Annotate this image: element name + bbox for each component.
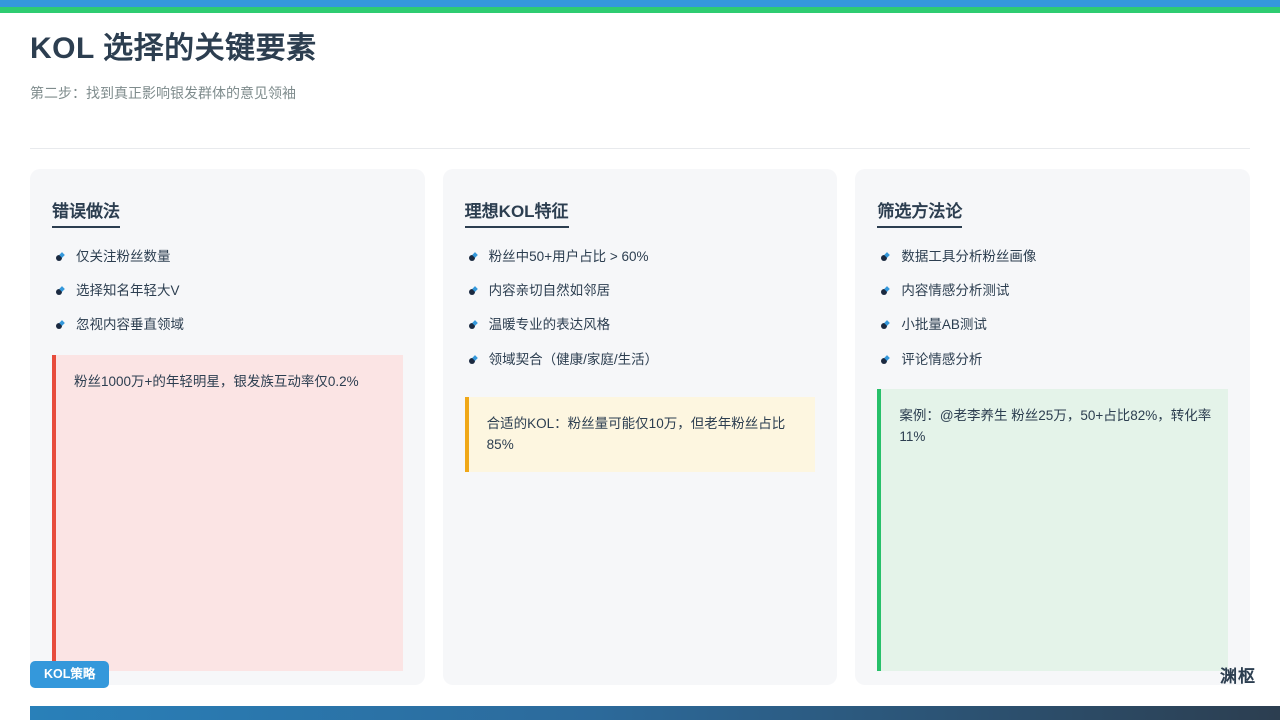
card-ideal-kol-traits: 理想KOL特征 粉丝中50+用户占比 > 60% 内容亲切自然如邻居 温暖专业的… xyxy=(443,169,838,685)
top-accent-bar-blue xyxy=(0,0,1280,7)
card-wrong-practices: 错误做法 仅关注粉丝数量 选择知名年轻大V 忽视内容垂直领域 粉丝1000万+的… xyxy=(30,169,425,685)
callout-box-green: 案例：@老李养生 粉丝25万，50+占比82%，转化率11% xyxy=(877,389,1228,671)
card-title: 筛选方法论 xyxy=(877,197,962,228)
list-item-label: 温暖专业的表达风格 xyxy=(489,317,611,332)
list-item-label: 粉丝中50+用户占比 > 60% xyxy=(489,249,649,264)
list-item: 评论情感分析 xyxy=(879,351,1228,369)
bullet-diamond-icon xyxy=(469,321,478,329)
list-item: 忽视内容垂直领域 xyxy=(54,316,403,334)
list-item-label: 评论情感分析 xyxy=(901,352,982,367)
list-item-label: 内容亲切自然如邻居 xyxy=(489,283,611,298)
bullet-list: 仅关注粉丝数量 选择知名年轻大V 忽视内容垂直领域 xyxy=(54,248,403,351)
list-item-label: 忽视内容垂直领域 xyxy=(76,317,184,332)
page-title: KOL 选择的关键要素 xyxy=(30,30,1250,68)
bullet-diamond-icon xyxy=(469,253,478,261)
card-spacer xyxy=(465,472,816,685)
callout-box-yellow: 合适的KOL：粉丝量可能仅10万，但老年粉丝占比85% xyxy=(465,397,816,472)
list-item-label: 内容情感分析测试 xyxy=(901,283,1009,298)
bullet-list: 数据工具分析粉丝画像 内容情感分析测试 小批量AB测试 评论情感分析 xyxy=(879,248,1228,385)
bullet-diamond-icon xyxy=(881,253,890,261)
list-item: 内容亲切自然如邻居 xyxy=(467,282,816,300)
list-item: 内容情感分析测试 xyxy=(879,282,1228,300)
list-item: 温暖专业的表达风格 xyxy=(467,316,816,334)
list-item-label: 选择知名年轻大V xyxy=(76,283,180,298)
bullet-diamond-icon xyxy=(469,356,478,364)
top-accent-bar-green xyxy=(0,7,1280,13)
list-item-label: 小批量AB测试 xyxy=(901,317,987,332)
list-item-label: 数据工具分析粉丝画像 xyxy=(901,249,1036,264)
slide-header: KOL 选择的关键要素 第二步：找到真正影响银发群体的意见领袖 xyxy=(30,30,1250,103)
list-item: 领域契合（健康/家庭/生活） xyxy=(467,351,816,369)
page-subtitle: 第二步：找到真正影响银发群体的意见领袖 xyxy=(30,84,1250,104)
card-title: 理想KOL特征 xyxy=(465,197,569,228)
bullet-diamond-icon xyxy=(56,253,65,261)
header-divider xyxy=(30,148,1250,149)
status-badge: KOL策略 xyxy=(30,661,109,688)
bullet-diamond-icon xyxy=(881,356,890,364)
list-item: 小批量AB测试 xyxy=(879,316,1228,334)
bullet-diamond-icon xyxy=(881,321,890,329)
bullet-list: 粉丝中50+用户占比 > 60% 内容亲切自然如邻居 温暖专业的表达风格 领域契… xyxy=(467,248,816,385)
callout-box-red: 粉丝1000万+的年轻明星，银发族互动率仅0.2% xyxy=(52,355,403,671)
list-item-label: 领域契合（健康/家庭/生活） xyxy=(489,352,659,367)
bullet-diamond-icon xyxy=(56,287,65,295)
list-item-label: 仅关注粉丝数量 xyxy=(76,249,171,264)
bottom-accent-bar xyxy=(30,706,1280,720)
watermark-logo: 渊枢 xyxy=(1220,662,1256,687)
bullet-diamond-icon xyxy=(56,321,65,329)
list-item: 仅关注粉丝数量 xyxy=(54,248,403,266)
list-item: 粉丝中50+用户占比 > 60% xyxy=(467,248,816,266)
card-title: 错误做法 xyxy=(52,197,120,228)
bullet-diamond-icon xyxy=(881,287,890,295)
card-row: 错误做法 仅关注粉丝数量 选择知名年轻大V 忽视内容垂直领域 粉丝1000万+的… xyxy=(30,169,1250,685)
list-item: 数据工具分析粉丝画像 xyxy=(879,248,1228,266)
list-item: 选择知名年轻大V xyxy=(54,282,403,300)
card-screening-methodology: 筛选方法论 数据工具分析粉丝画像 内容情感分析测试 小批量AB测试 评论情感分析… xyxy=(855,169,1250,685)
bullet-diamond-icon xyxy=(469,287,478,295)
